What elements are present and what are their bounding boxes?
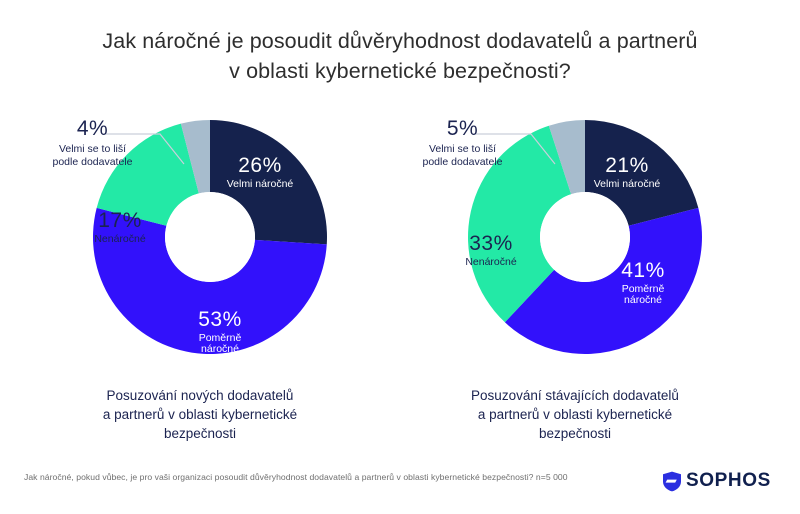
- sophos-logo-text: SOPHOS: [686, 470, 771, 492]
- page-title-line-1: Jak náročné je posoudit důvěryhodnost do…: [0, 26, 800, 56]
- footnote-text: Jak náročné, pokud vůbec, je pro vaši or…: [24, 472, 568, 482]
- callout-varies-left: 4% Velmi se to liší podle dodavatele: [10, 116, 175, 168]
- caption-left-line-2: a partnerů v oblasti kybernetické: [0, 405, 400, 424]
- page-title-line-2: v oblasti kybernetické bezpečnosti?: [0, 56, 800, 86]
- donut-hole-left: [165, 192, 255, 282]
- page-title: Jak náročné je posoudit důvěryhodnost do…: [0, 26, 800, 86]
- callout-varies-left-name-1: Velmi se to liší: [10, 143, 175, 156]
- caption-right-line-2: a partnerů v oblasti kybernetické: [375, 405, 775, 424]
- caption-left-line-1: Posuzování nových dodavatelů: [0, 386, 400, 405]
- donut-chart-existing-suppliers: 21% Velmi náročné 41% Poměrně náročné 33…: [375, 104, 775, 394]
- callout-varies-right-name-1: Velmi se to liší: [380, 143, 545, 156]
- chart-caption-existing-suppliers: Posuzování stávajících dodavatelů a part…: [375, 386, 775, 443]
- callout-varies-right: 5% Velmi se to liší podle dodavatele: [380, 116, 545, 168]
- callout-varies-left-pct: 4%: [10, 116, 175, 141]
- sophos-logo: SOPHOS: [662, 470, 771, 492]
- callout-varies-right-pct: 5%: [380, 116, 545, 141]
- donut-chart-new-suppliers: 26% Velmi náročné 53% Poměrně náročné 17…: [0, 104, 400, 394]
- caption-right-line-3: bezpečnosti: [375, 424, 775, 443]
- caption-right-line-1: Posuzování stávajících dodavatelů: [375, 386, 775, 405]
- chart-caption-new-suppliers: Posuzování nových dodavatelů a partnerů …: [0, 386, 400, 443]
- callout-varies-right-name-2: podle dodavatele: [380, 156, 545, 169]
- sophos-shield-icon: [662, 471, 682, 492]
- donut-hole-right: [540, 192, 630, 282]
- callout-varies-left-name-2: podle dodavatele: [10, 156, 175, 169]
- caption-left-line-3: bezpečnosti: [0, 424, 400, 443]
